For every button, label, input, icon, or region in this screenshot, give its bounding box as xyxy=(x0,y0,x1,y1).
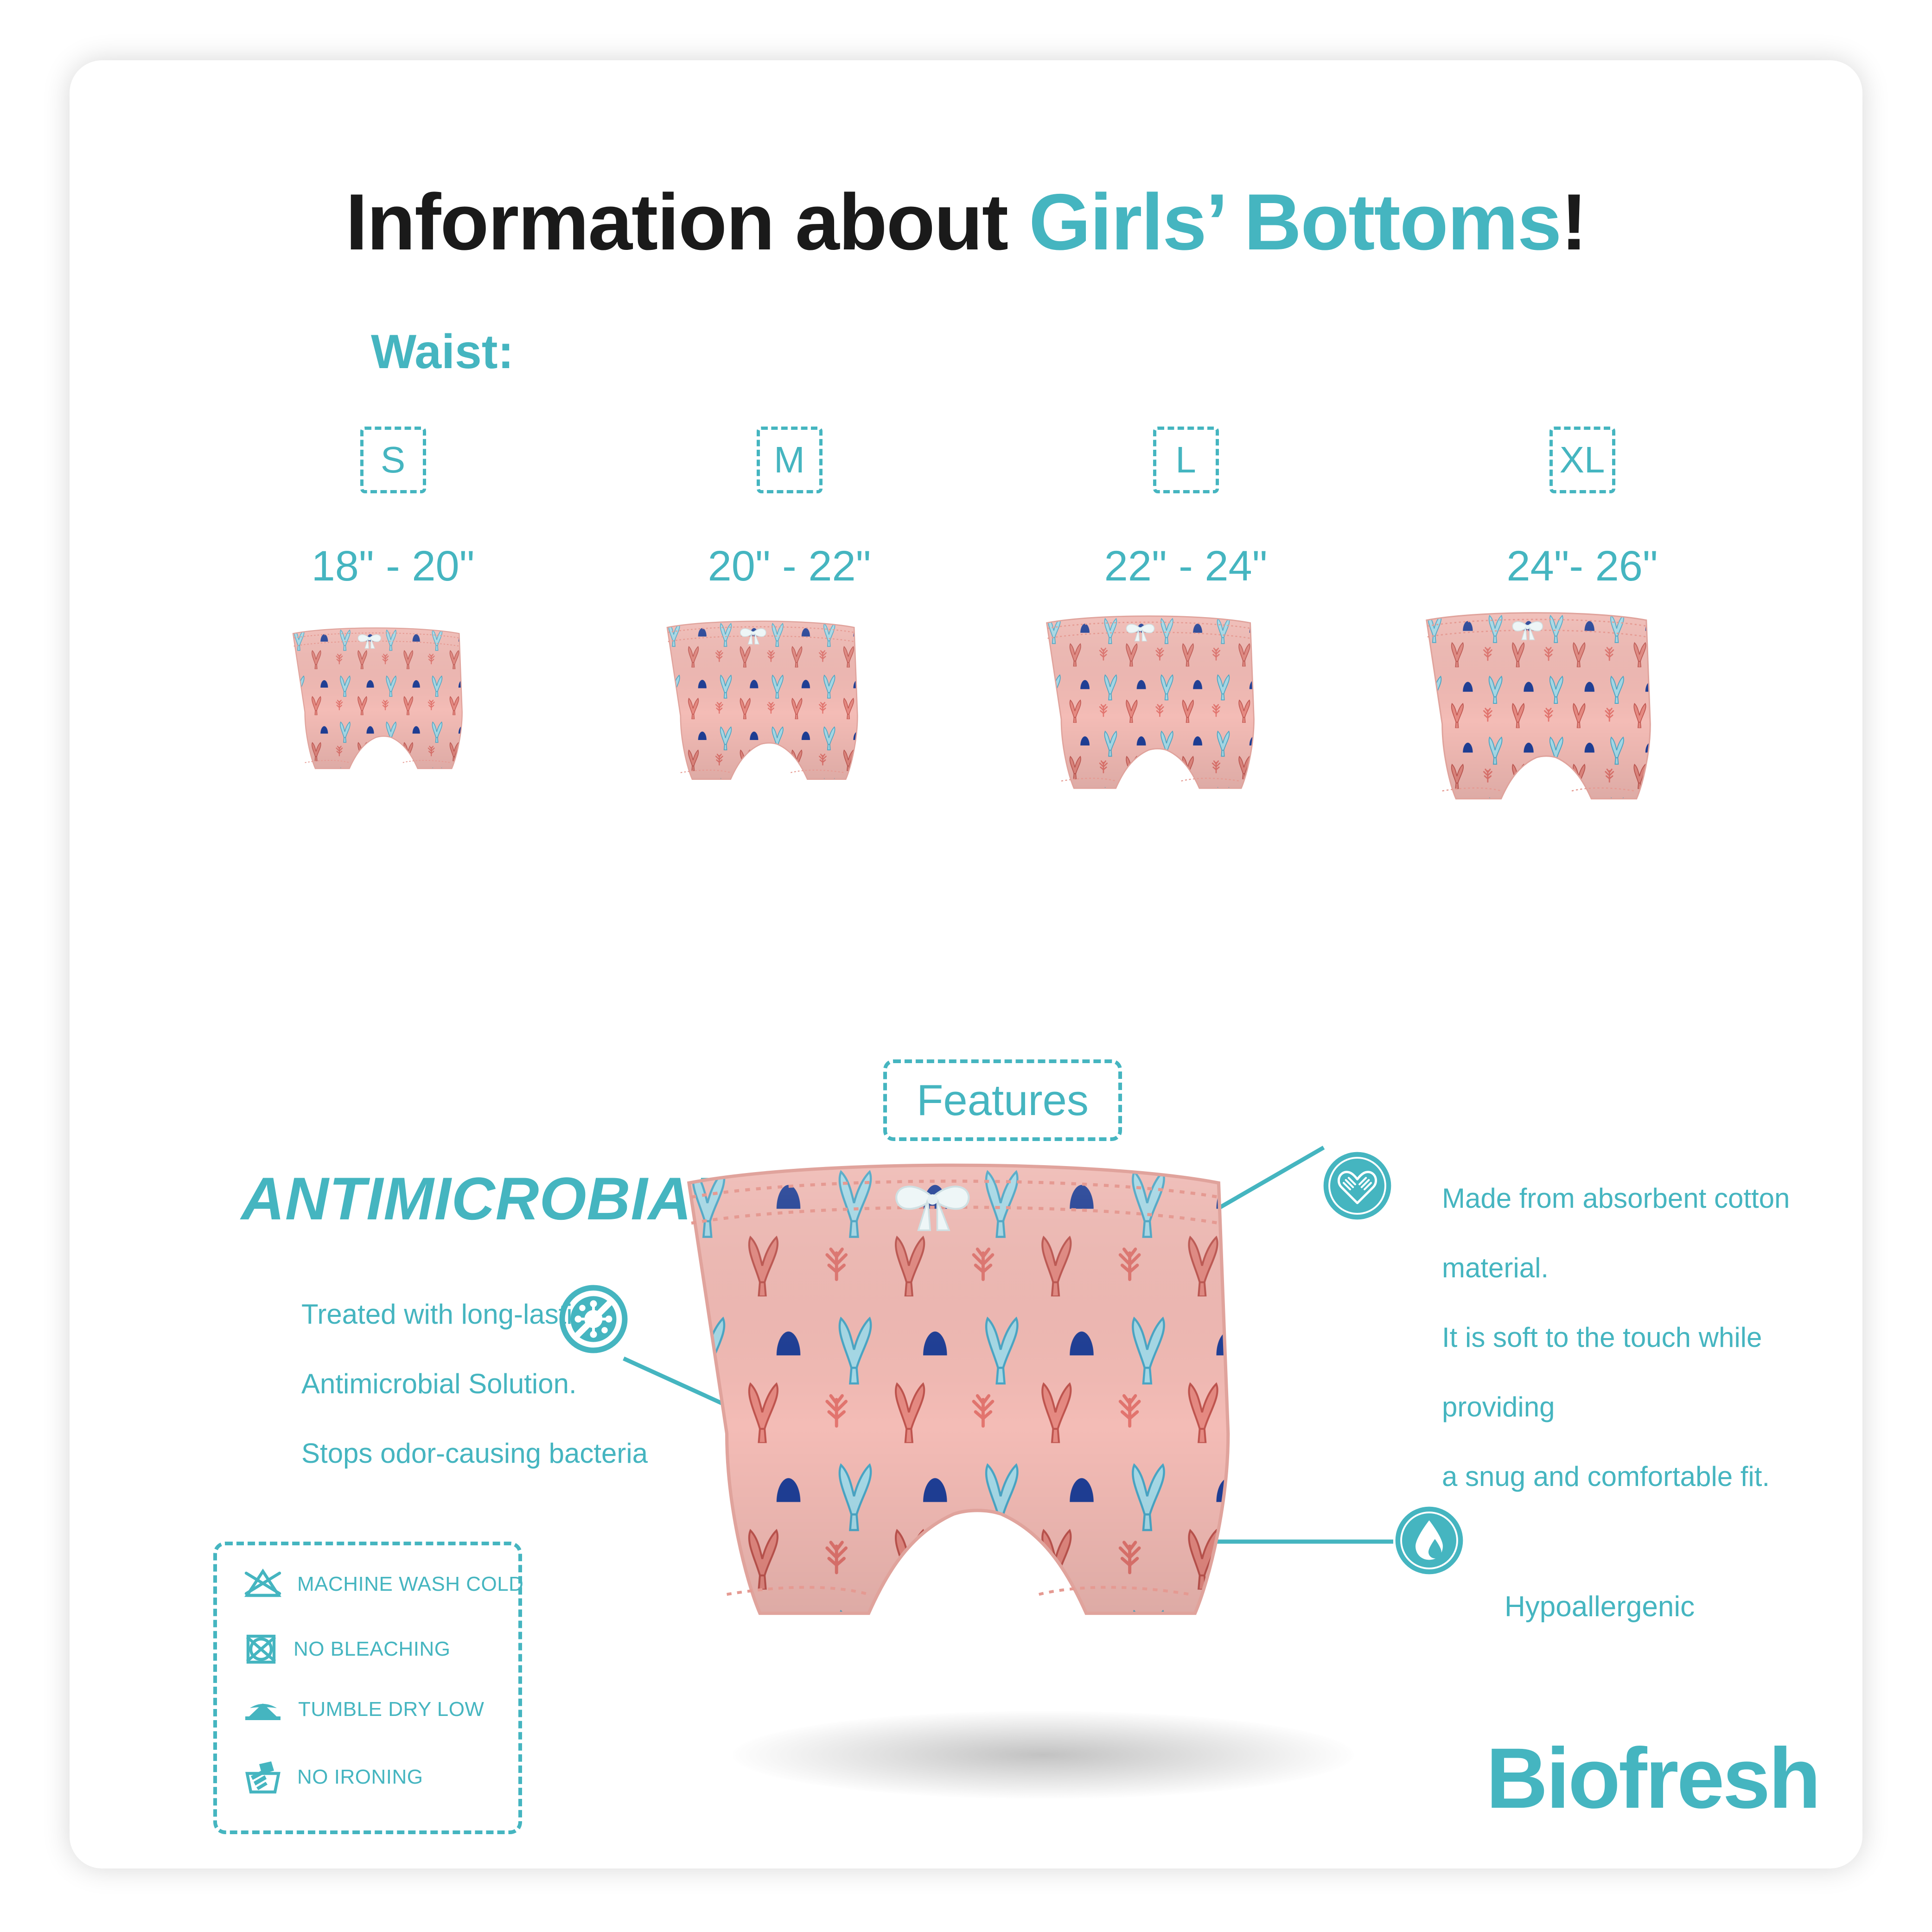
care-item-no-ironing: NO IRONING xyxy=(242,1759,423,1796)
size-badge-xl[interactable]: XL xyxy=(1549,427,1615,493)
size-chart: S 18" - 20" M 20" - 22" L 22" - 24" XL 2… xyxy=(195,427,1780,591)
title-tail: ! xyxy=(1561,178,1586,267)
tumble-dry-low-icon xyxy=(242,1696,284,1723)
cotton-line-3: a snug and comfortable fit. xyxy=(1442,1442,1862,1511)
product-image-s xyxy=(195,603,591,821)
hypoallergenic-label: Hypoallergenic xyxy=(1505,1590,1695,1623)
no-ironing-icon xyxy=(242,1759,283,1796)
hands-heart-icon xyxy=(1321,1150,1393,1224)
care-label-machine-wash-cold: MACHINE WASH COLD xyxy=(297,1573,523,1596)
size-column-xl: XL 24"- 26" xyxy=(1384,427,1780,591)
care-label-no-bleaching: NO BLEACHING xyxy=(293,1638,451,1661)
care-item-machine-wash-cold: MACHINE WASH COLD xyxy=(242,1565,523,1603)
machine-wash-cold-icon xyxy=(242,1565,283,1603)
size-badge-s[interactable]: S xyxy=(360,427,426,493)
care-item-tumble-dry-low: TUMBLE DRY LOW xyxy=(242,1696,484,1723)
no-bleaching-icon xyxy=(242,1630,280,1668)
antimicrobial-line-2: Antimicrobial Solution. xyxy=(301,1349,648,1419)
product-image-xl xyxy=(1384,603,1780,865)
product-size-images xyxy=(195,603,1780,865)
size-column-l: L 22" - 24" xyxy=(988,427,1384,591)
product-image-l xyxy=(988,603,1384,848)
antimicrobial-line-3: Stops odor-causing bacteria xyxy=(301,1419,648,1488)
water-drop-icon xyxy=(1393,1505,1465,1579)
waist-label: Waist: xyxy=(371,325,514,380)
size-measurement-s: 18" - 20" xyxy=(312,542,475,591)
title-highlight: Girls’ Bottoms xyxy=(1029,178,1561,267)
infographic-card: Information about Girls’ Bottoms! Waist:… xyxy=(70,60,1862,1868)
care-label-no-ironing: NO IRONING xyxy=(297,1766,423,1789)
product-image-m xyxy=(591,603,988,835)
cotton-line-2: It is soft to the touch while providing xyxy=(1442,1303,1862,1442)
brand-logo: Biofresh xyxy=(1486,1729,1819,1828)
cotton-line-1: Made from absorbent cotton material. xyxy=(1442,1164,1862,1303)
antimicrobial-heading: ANTIMICROBIAL xyxy=(241,1164,729,1233)
size-column-s: S 18" - 20" xyxy=(195,427,591,591)
care-label-tumble-dry-low: TUMBLE DRY LOW xyxy=(298,1698,484,1721)
size-measurement-m: 20" - 22" xyxy=(708,542,871,591)
size-column-m: M 20" - 22" xyxy=(591,427,988,591)
size-measurement-l: 22" - 24" xyxy=(1104,542,1268,591)
size-badge-l[interactable]: L xyxy=(1153,427,1219,493)
care-item-no-bleaching: NO BLEACHING xyxy=(242,1630,451,1668)
title-lead: Information about xyxy=(345,178,1029,267)
page-title: Information about Girls’ Bottoms! xyxy=(70,176,1862,268)
size-badge-m[interactable]: M xyxy=(757,427,823,493)
no-germ-icon xyxy=(559,1284,628,1356)
care-instructions-box: MACHINE WASH COLD NO BLEACHING T xyxy=(213,1542,522,1834)
hero-product-image xyxy=(658,1127,1321,1741)
cotton-description: Made from absorbent cotton material. It … xyxy=(1442,1164,1862,1511)
size-measurement-xl: 24"- 26" xyxy=(1506,542,1658,591)
